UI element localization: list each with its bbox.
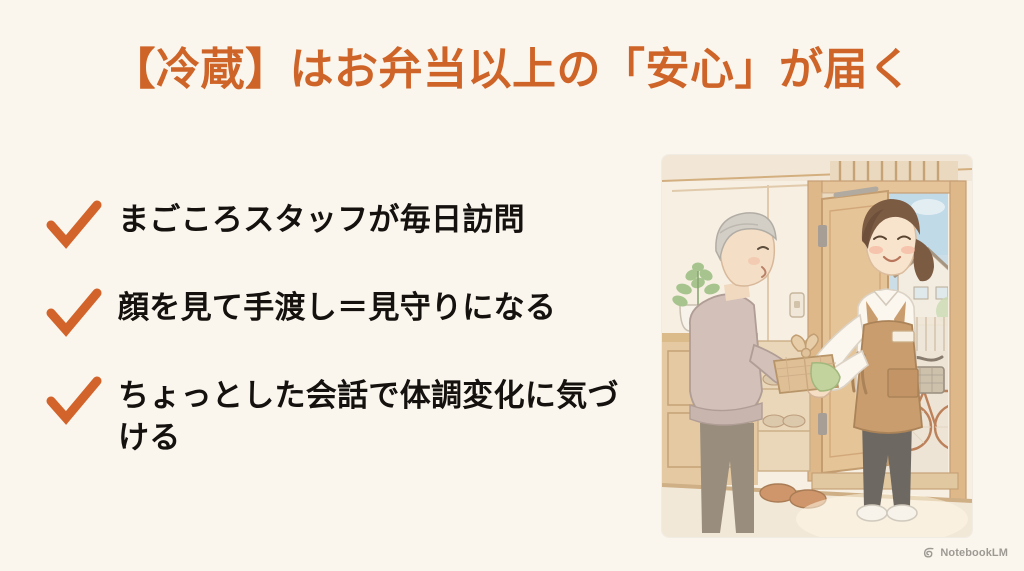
benefits-list: まごころスタッフが毎日訪問 顔を見て手渡し＝見守りになる ちょっとした会話で体調… — [46, 196, 646, 493]
list-item-label: 顔を見て手渡し＝見守りになる — [118, 284, 556, 329]
check-icon — [46, 198, 102, 250]
slide-canvas: 【冷蔵】はお弁当以上の「安心」が届く まごころスタッフが毎日訪問 顔を見て手渡し… — [0, 0, 1024, 571]
page-title: 【冷蔵】はお弁当以上の「安心」が届く — [0, 44, 1024, 97]
check-icon — [46, 374, 102, 426]
check-icon — [46, 286, 102, 338]
list-item: ちょっとした会話で体調変化に気づける — [46, 372, 646, 459]
list-item-label: ちょっとした会話で体調変化に気づける — [118, 372, 638, 459]
list-item: まごころスタッフが毎日訪問 — [46, 196, 646, 250]
list-item: 顔を見て手渡し＝見守りになる — [46, 284, 646, 338]
notebooklm-label: NotebookLM — [940, 547, 1008, 559]
illustration-image — [662, 155, 972, 537]
notebooklm-logo-icon — [922, 546, 935, 559]
list-item-label: まごころスタッフが毎日訪問 — [118, 196, 525, 241]
notebooklm-watermark: NotebookLM — [922, 546, 1008, 559]
